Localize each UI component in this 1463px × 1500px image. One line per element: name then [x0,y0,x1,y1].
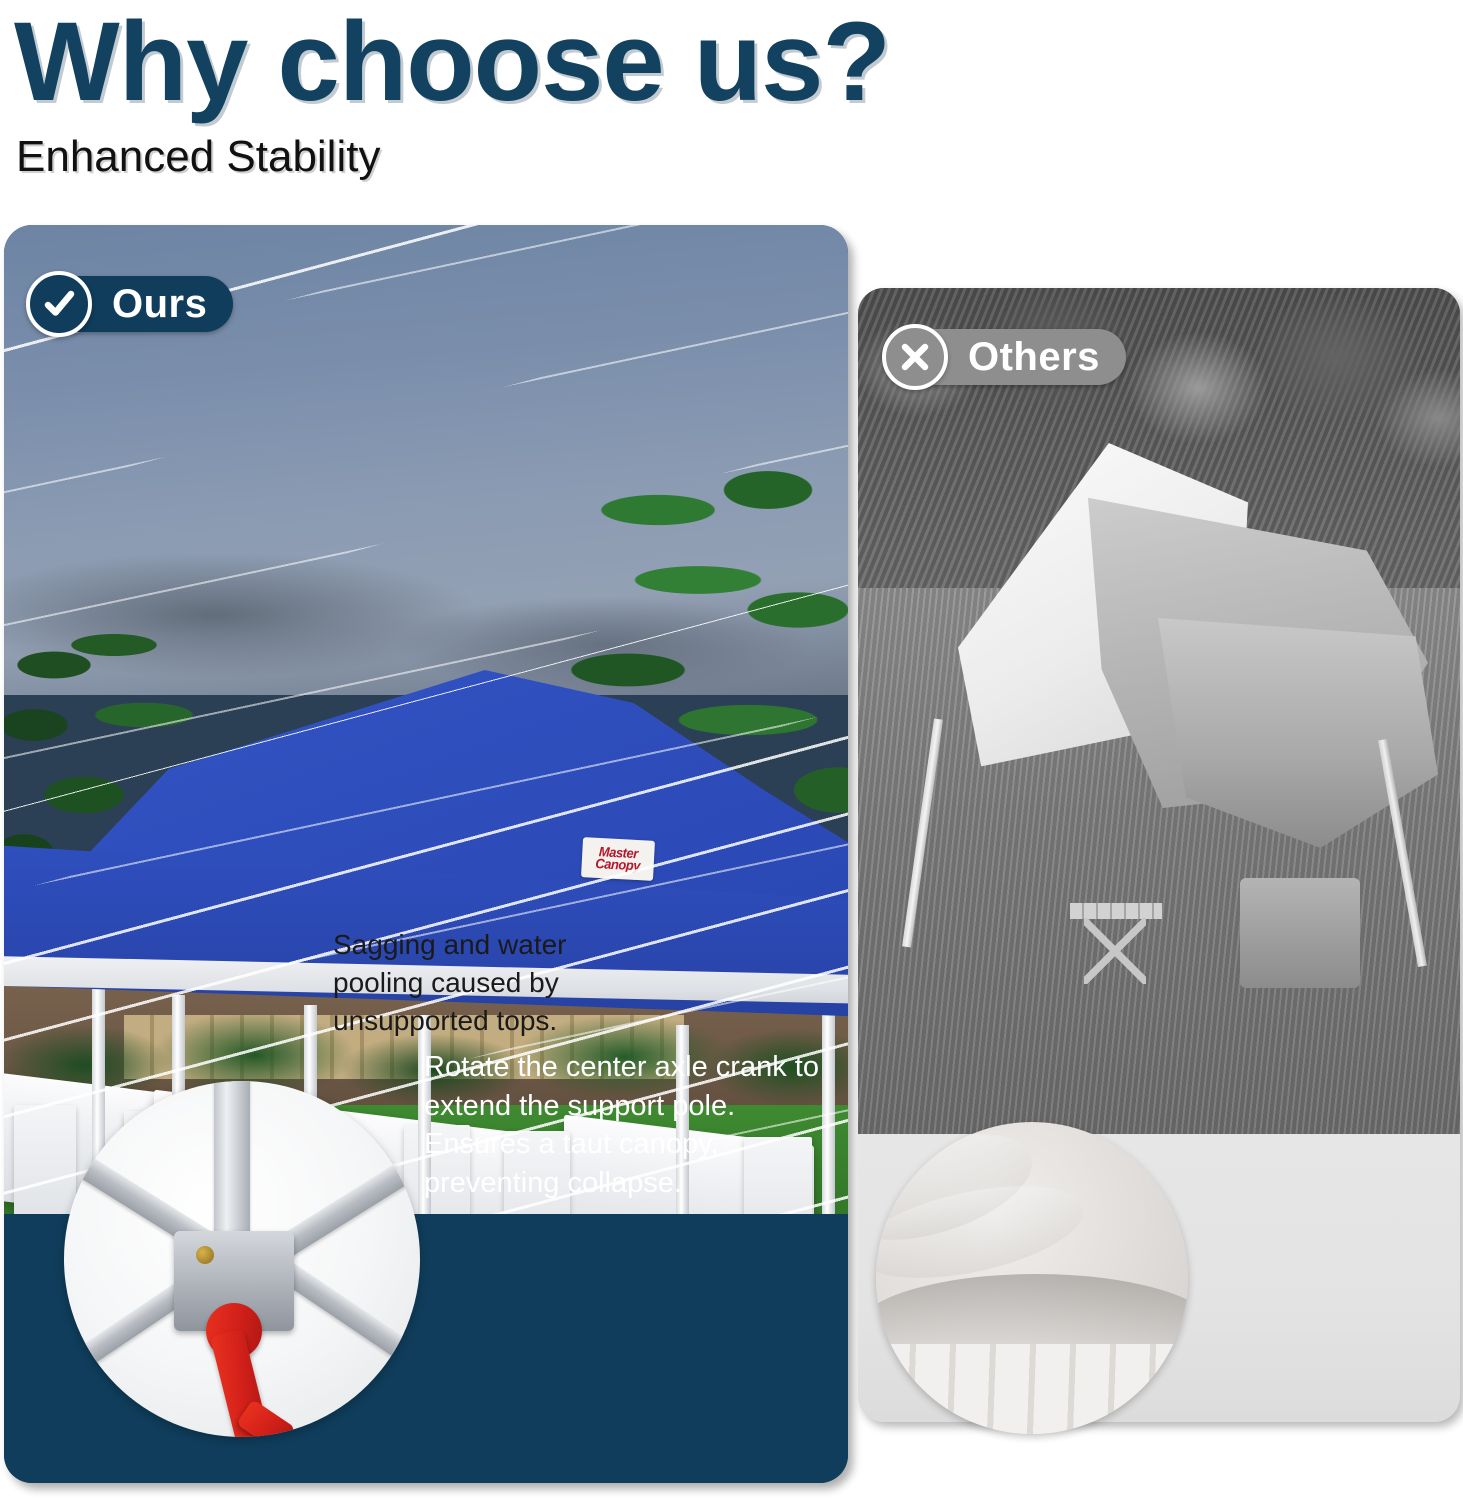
others-detail-inset [876,1122,1188,1434]
page-subtitle: Enhanced Stability [16,132,380,182]
ours-detail-inset [64,1081,420,1437]
page-title: Why choose us? [14,0,890,132]
x-icon [882,324,948,390]
others-caption-text: Sagging and water pooling caused by unsu… [333,926,583,1040]
ours-caption-text: Rotate the center axle crank to extend t… [424,1048,824,1202]
logo-text-line2: Canopy [595,858,640,873]
folding-table-legs [1084,918,1146,984]
mastercanopy-logo: Master Canopy [581,837,655,881]
hub-bolt [196,1246,214,1264]
folding-table-small [1070,903,1162,919]
water-pool-line [876,1274,1188,1354]
badge-ours: Ours [26,272,233,336]
badge-others: Others [882,325,1126,389]
fabric-skirt [876,1344,1188,1434]
others-photo [858,288,1460,1136]
camp-chair [1240,878,1360,988]
page-header: Why choose us? Enhanced Stability [0,0,1463,220]
check-icon [26,271,92,337]
